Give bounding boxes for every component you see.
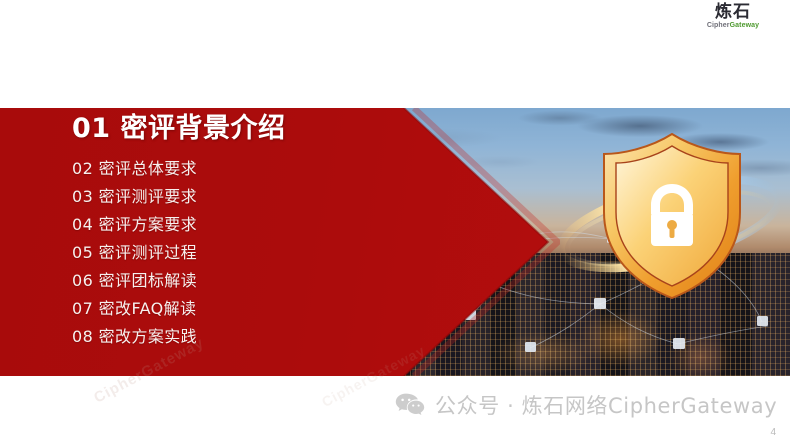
page-number: 4 xyxy=(770,427,776,438)
agenda-item[interactable]: 02 密评总体要求 xyxy=(72,155,402,183)
agenda-active-title: 01 密评背景介绍 xyxy=(72,112,402,146)
agenda-text-block: 01 密评背景介绍 02 密评总体要求 03 密评测评要求 04 密评方案要求 … xyxy=(72,112,402,351)
agenda-item[interactable]: 07 密改FAQ解读 xyxy=(72,295,402,323)
agenda-list: 02 密评总体要求 03 密评测评要求 04 密评方案要求 05 密评测评过程 … xyxy=(72,155,402,351)
brand-logo-en: CipherGateway xyxy=(690,22,776,29)
brand-logo-cn: 炼石 xyxy=(690,4,776,21)
agenda-item[interactable]: 03 密评测评要求 xyxy=(72,183,402,211)
brand-logo: 炼石 CipherGateway xyxy=(690,4,776,29)
wechat-icon xyxy=(395,392,425,418)
slide-canvas: 炼石 CipherGateway xyxy=(0,0,790,444)
agenda-item[interactable]: 08 密改方案实践 xyxy=(72,323,402,351)
footer-bar: 公众号 · 炼石网络CipherGateway xyxy=(395,390,777,420)
agenda-item[interactable]: 06 密评团标解读 xyxy=(72,267,402,295)
agenda-item[interactable]: 05 密评测评过程 xyxy=(72,239,402,267)
shield-lock-icon xyxy=(598,130,746,302)
brand-logo-en-gateway: Gateway xyxy=(730,22,760,29)
footer-text: 公众号 · 炼石网络CipherGateway xyxy=(435,390,777,420)
agenda-item[interactable]: 04 密评方案要求 xyxy=(72,211,402,239)
brand-logo-en-cipher: Cipher xyxy=(707,22,730,29)
